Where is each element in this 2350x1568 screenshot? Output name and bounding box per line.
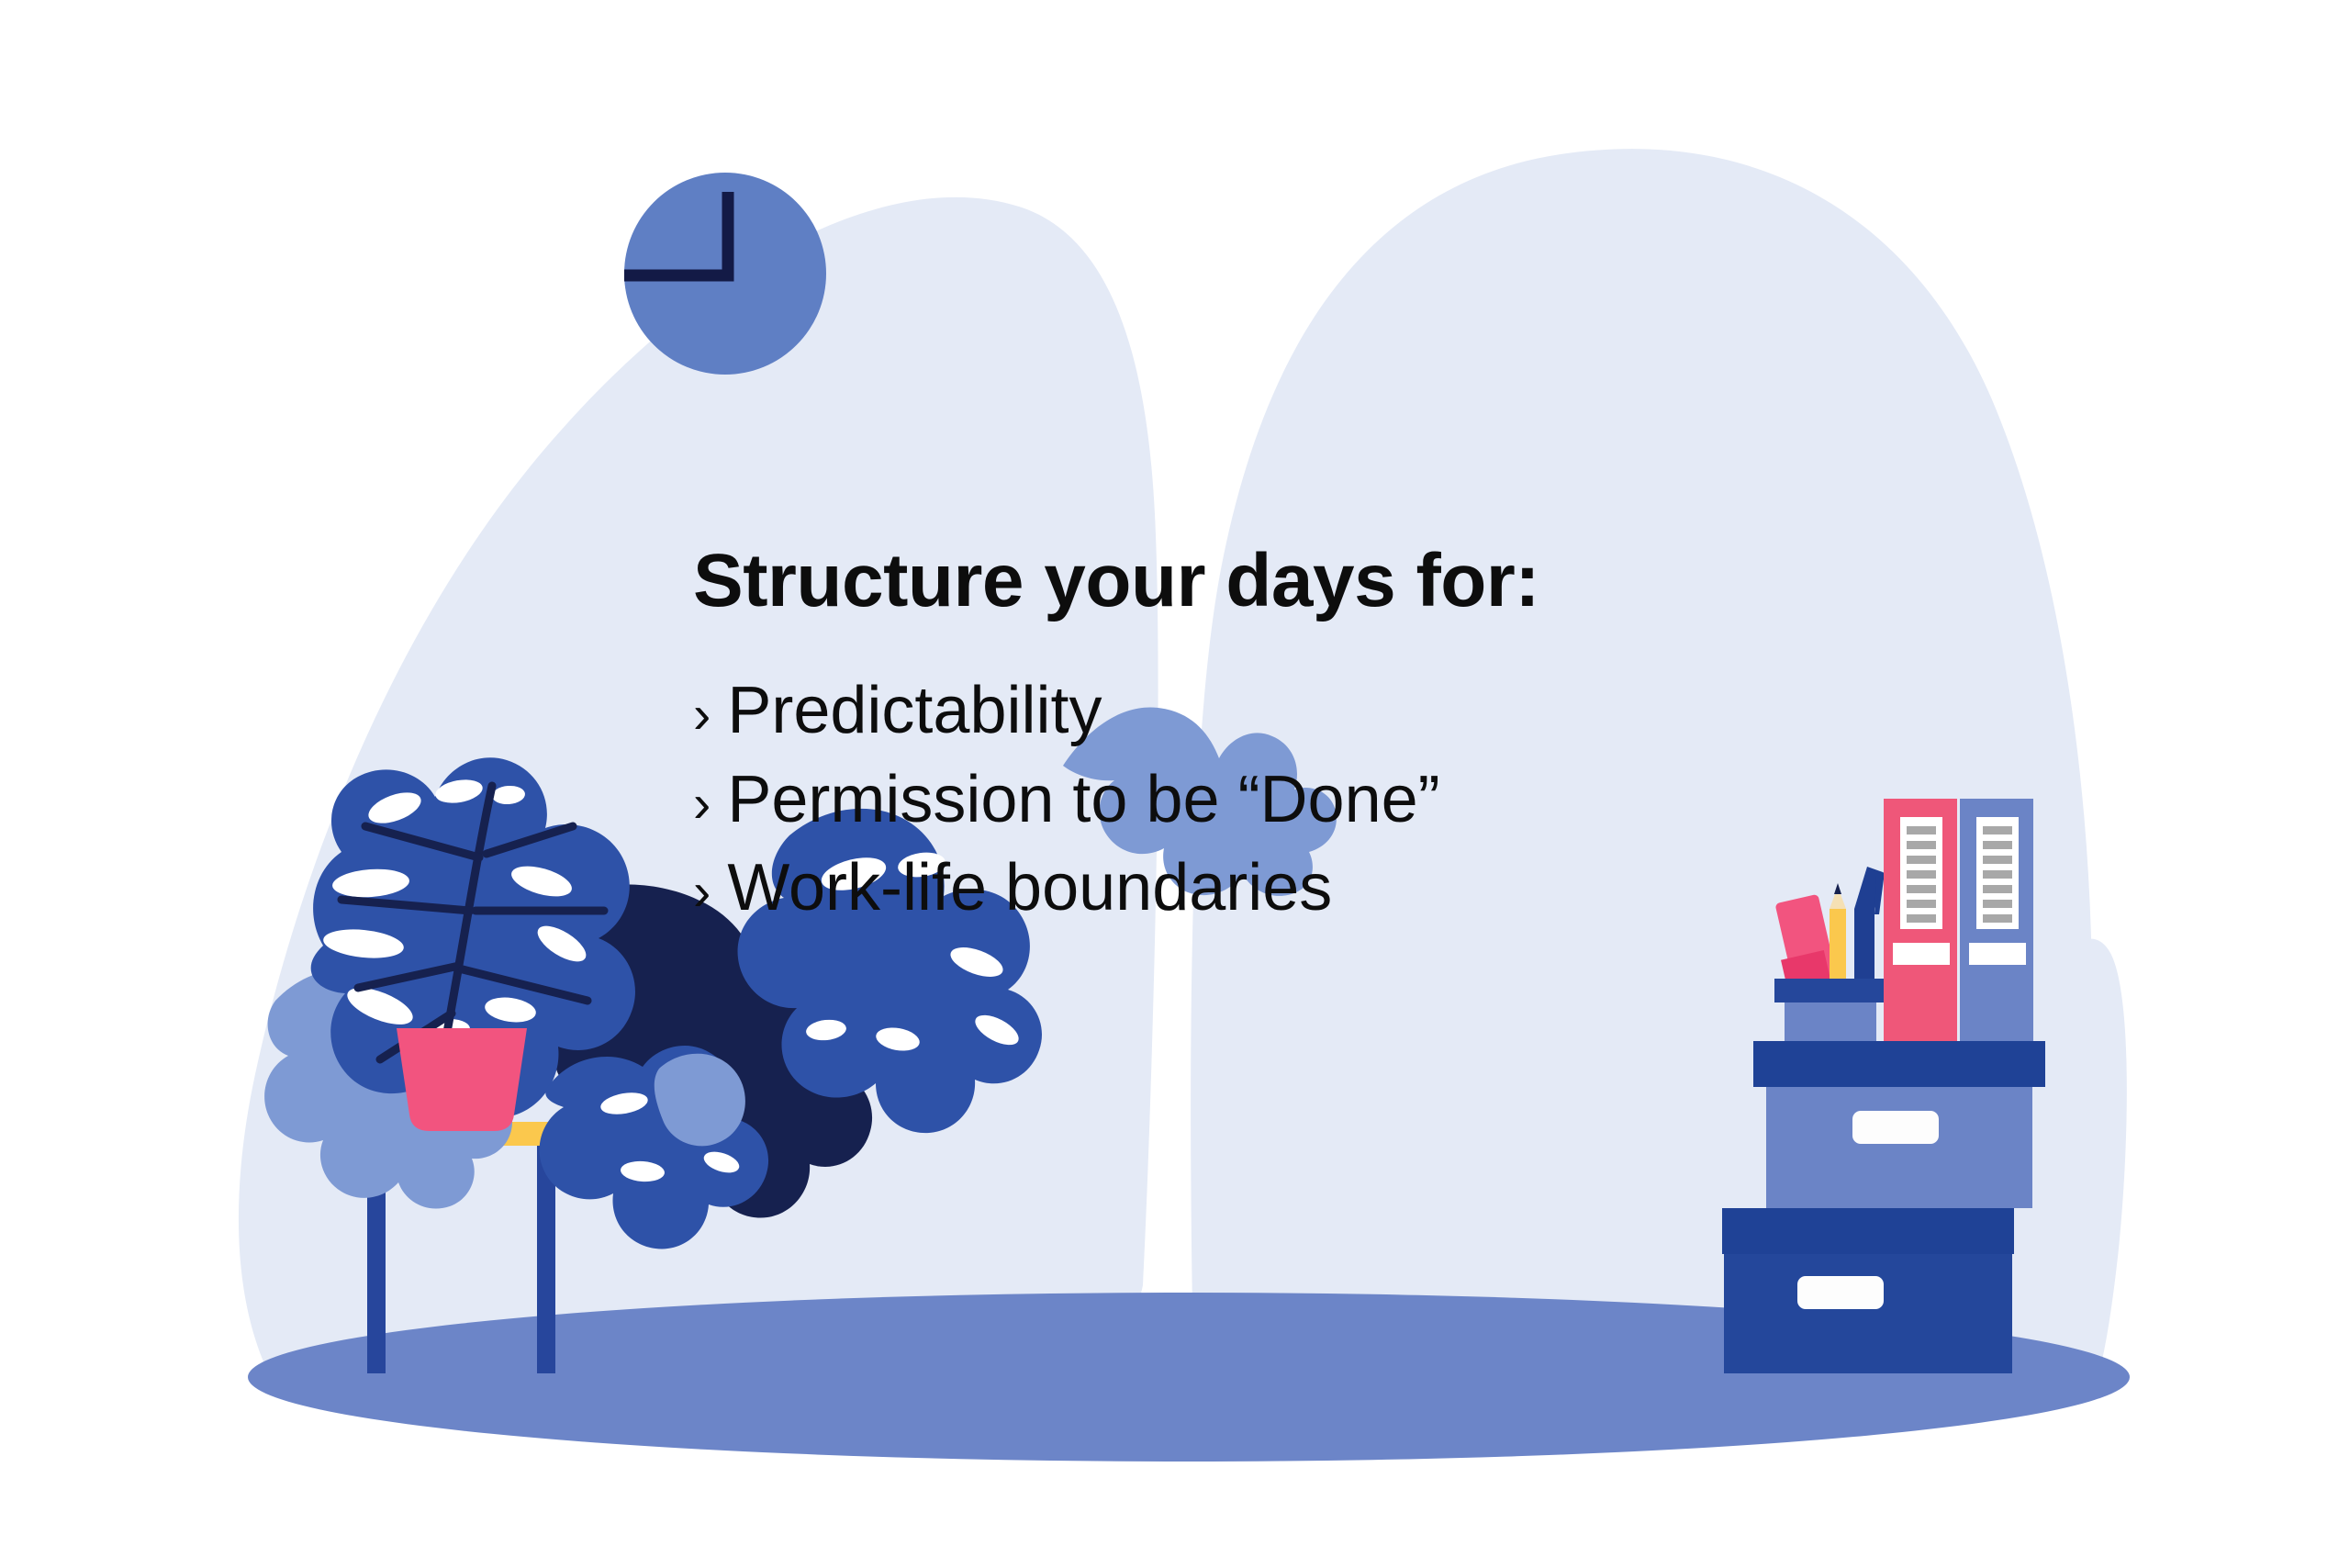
binder-pink bbox=[1884, 799, 1957, 1054]
storage-box-top-label bbox=[1852, 1111, 1939, 1144]
list-item-label: Permission to be “Done” bbox=[727, 763, 1439, 837]
list-item-label: Work-life boundaries bbox=[727, 851, 1332, 925]
chevron-right-icon: › bbox=[693, 866, 711, 919]
storage-box-top bbox=[1753, 1041, 2045, 1208]
storage-box-top-body bbox=[1766, 1087, 2032, 1208]
plant-pot-body bbox=[397, 1028, 527, 1131]
chevron-right-icon: › bbox=[693, 689, 711, 742]
wall-clock bbox=[624, 173, 826, 375]
list-item: › Permission to be “Done” bbox=[693, 763, 1841, 837]
list-item: › Work-life boundaries bbox=[693, 851, 1841, 925]
storage-box-bottom-lid bbox=[1722, 1208, 2014, 1254]
list-item-label: Predictability bbox=[727, 674, 1102, 748]
storage-box-top-lid bbox=[1753, 1041, 2045, 1087]
binder-blue-label bbox=[1969, 943, 2026, 965]
benefits-list: › Predictability › Permission to be “Don… bbox=[693, 674, 1841, 925]
cup-rim bbox=[1774, 979, 1885, 1002]
storage-box-bottom bbox=[1722, 1208, 2014, 1373]
storage-box-bottom-body bbox=[1724, 1254, 2012, 1373]
binder-blue bbox=[1960, 799, 2033, 1054]
illustration-canvas: Structure your days for: › Predictabilit… bbox=[0, 0, 2350, 1568]
list-item: › Predictability bbox=[693, 674, 1841, 748]
chevron-right-icon: › bbox=[693, 778, 711, 831]
storage-box-bottom-label bbox=[1797, 1276, 1884, 1309]
page-title: Structure your days for: bbox=[693, 542, 1841, 621]
text-content-block: Structure your days for: › Predictabilit… bbox=[693, 542, 1841, 940]
binder-pink-label bbox=[1893, 943, 1950, 965]
